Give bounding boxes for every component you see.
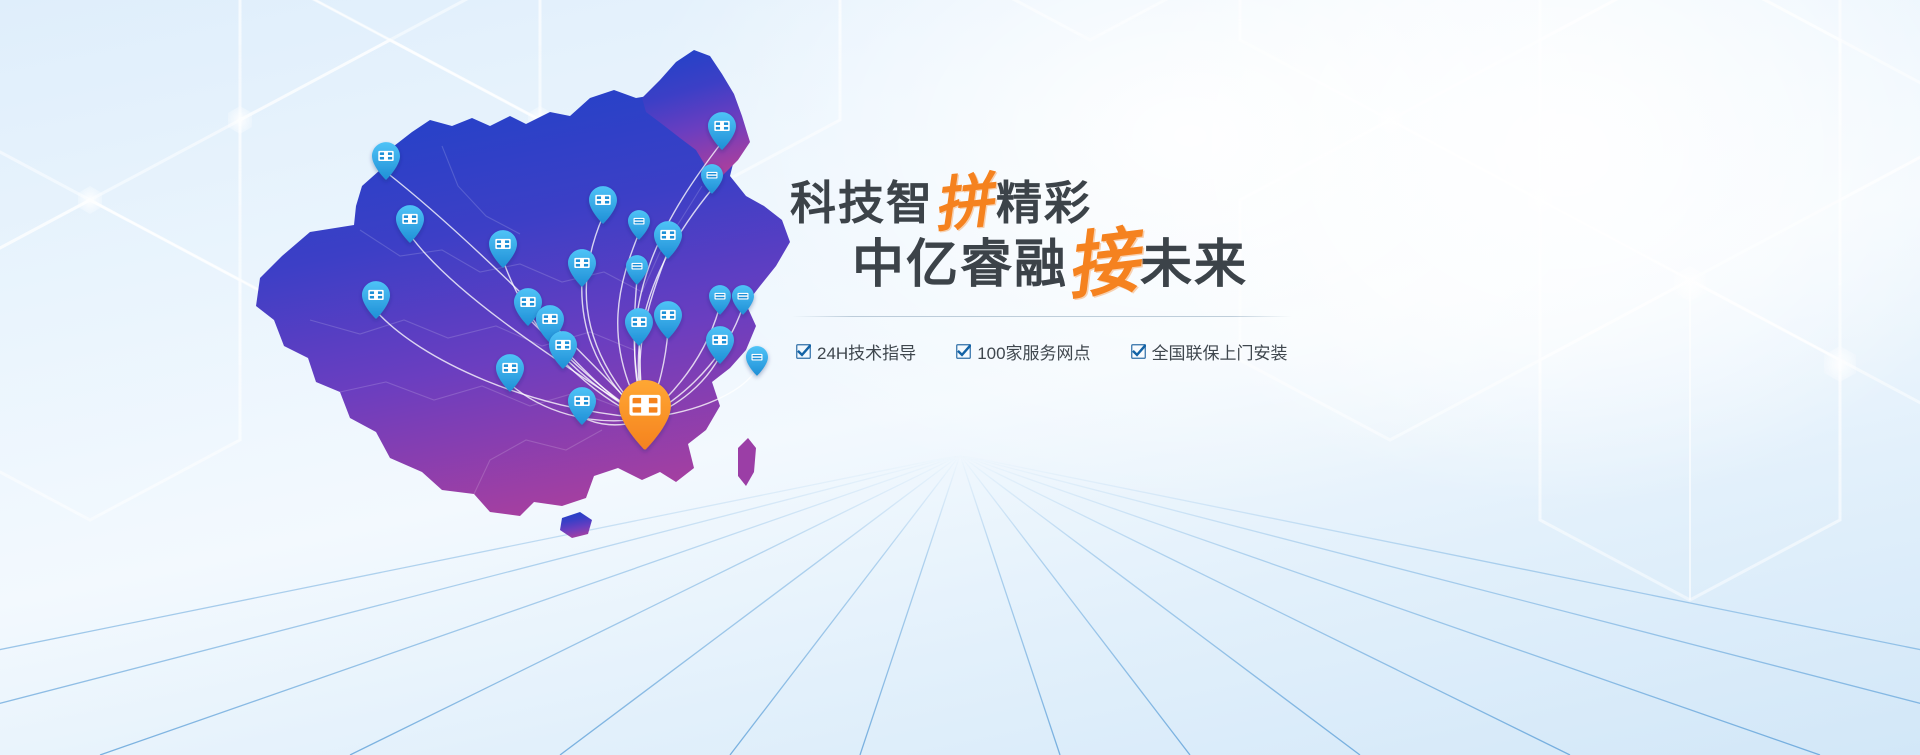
banner-copy: 科技智拼精彩 中亿睿融接未来 24H技术指导 100家服务网点 — [780, 178, 1400, 364]
headline-line2-accent: 接 — [1062, 220, 1143, 309]
headline-line-1: 科技智拼精彩 — [780, 178, 1400, 230]
feature-item: 全国联保上门安装 — [1131, 339, 1288, 364]
check-icon — [956, 344, 971, 359]
banner-stage: 科技智拼精彩 中亿睿融接未来 24H技术指导 100家服务网点 — [0, 0, 1920, 755]
check-icon — [1131, 344, 1146, 359]
headline-line-2: 中亿睿融接未来 — [780, 236, 1400, 294]
feature-item: 24H技术指导 — [796, 339, 916, 364]
feature-label: 100家服务网点 — [977, 339, 1090, 364]
feature-label: 24H技术指导 — [817, 339, 916, 364]
check-icon — [796, 344, 811, 359]
headline-line2-before: 中亿睿融 — [852, 236, 1068, 294]
china-service-network-map — [190, 20, 830, 630]
headline-line1-accent: 拼 — [930, 168, 995, 240]
feature-list: 24H技术指导 100家服务网点 全国联保上门安装 — [796, 339, 1400, 364]
headline-line2-after: 未来 — [1140, 236, 1248, 294]
feature-label: 全国联保上门安装 — [1152, 339, 1288, 364]
headline-line1-before: 科技智 — [790, 177, 934, 229]
headline-line1-after: 精彩 — [996, 177, 1092, 229]
feature-item: 100家服务网点 — [956, 339, 1090, 364]
divider — [792, 316, 1292, 317]
display-pin-icon[interactable] — [746, 346, 768, 376]
